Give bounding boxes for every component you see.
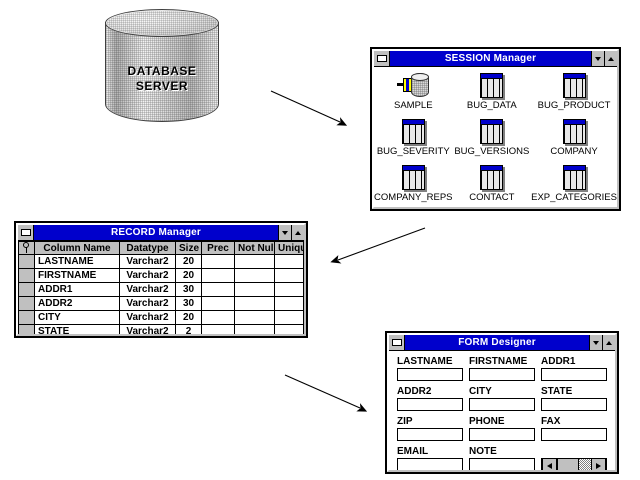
cell-not-null[interactable]: [235, 269, 275, 283]
window-menu-icon[interactable]: [18, 225, 34, 240]
cell-column-name[interactable]: CITY: [35, 311, 120, 325]
maximize-button[interactable]: [604, 51, 617, 66]
table-row[interactable]: CITY Varchar2 20: [19, 311, 304, 325]
field-input[interactable]: [541, 428, 607, 441]
cell-datatype[interactable]: Varchar2: [120, 311, 176, 325]
record-manager-titlebar[interactable]: RECORD Manager: [18, 225, 304, 241]
record-grid-header-row: Column Name Datatype Size Prec Not Null …: [19, 242, 304, 255]
window-menu-icon[interactable]: [374, 51, 390, 66]
session-item-company[interactable]: COMPANY: [531, 117, 617, 163]
cell-prec[interactable]: [202, 255, 235, 269]
maximize-button[interactable]: [291, 225, 304, 240]
database-server-label: DATABASE SERVER: [105, 64, 219, 94]
cell-unique[interactable]: [275, 269, 304, 283]
field-label: FAX: [541, 416, 607, 428]
minimize-button[interactable]: [589, 335, 602, 350]
database-server-graphic: DATABASE SERVER: [99, 3, 223, 129]
spacer-label: [541, 446, 607, 458]
key-icon: [22, 242, 31, 253]
table-icon: [402, 163, 425, 191]
cell-prec[interactable]: [202, 269, 235, 283]
form-designer-body: LASTNAME FIRSTNAME ADDR1: [389, 351, 615, 470]
cell-prec[interactable]: [202, 325, 235, 335]
cell-unique[interactable]: [275, 283, 304, 297]
column-header[interactable]: Size: [176, 242, 202, 255]
session-item-contact[interactable]: CONTACT: [453, 163, 532, 207]
field-label: PHONE: [469, 416, 535, 428]
field-label: ADDR1: [541, 356, 607, 368]
form-field-email[interactable]: EMAIL: [397, 446, 463, 470]
session-item-label: BUG_PRODUCT: [538, 100, 611, 111]
session-item-label: COMPANY: [550, 146, 597, 157]
field-label: EMAIL: [397, 446, 463, 458]
cell-unique[interactable]: [275, 255, 304, 269]
server-label-line2: SERVER: [105, 79, 219, 94]
field-input[interactable]: [469, 458, 535, 470]
field-input[interactable]: [469, 398, 535, 411]
cell-datatype[interactable]: Varchar2: [120, 283, 176, 297]
row-selector[interactable]: [19, 311, 35, 325]
cell-prec[interactable]: [202, 311, 235, 325]
table-icon: [480, 117, 503, 145]
session-manager-body: SAMPLE BUG_DATA BUG_PRODUCT: [374, 67, 617, 207]
row-selector[interactable]: [19, 255, 35, 269]
field-input[interactable]: [469, 368, 535, 381]
session-item-company-reps[interactable]: COMPANY_REPS: [374, 163, 453, 207]
window-session-manager[interactable]: SESSION Manager SAMPLE: [370, 47, 621, 211]
field-label: LASTNAME: [397, 356, 463, 368]
form-row: ADDR2 CITY STATE: [397, 386, 607, 411]
form-row: EMAIL NOTE: [397, 446, 607, 470]
record-manager-title: RECORD Manager: [34, 225, 278, 240]
field-input[interactable]: [541, 398, 607, 411]
row-selector[interactable]: [19, 325, 35, 335]
table-icon: [480, 163, 503, 191]
field-label: FIRSTNAME: [469, 356, 535, 368]
session-item-exp-categories[interactable]: EXP_CATEGORIES: [531, 163, 617, 207]
field-input[interactable]: [397, 458, 463, 470]
cell-size[interactable]: 20: [176, 255, 202, 269]
scrollbar-thumb[interactable]: [557, 459, 579, 470]
minimize-button[interactable]: [278, 225, 291, 240]
cell-unique[interactable]: [275, 311, 304, 325]
database-connection-icon: [397, 71, 429, 99]
cell-not-null[interactable]: [235, 283, 275, 297]
cell-size[interactable]: 20: [176, 311, 202, 325]
column-header[interactable]: Unique: [275, 242, 304, 255]
row-selector[interactable]: [19, 269, 35, 283]
cell-datatype[interactable]: Varchar2: [120, 297, 176, 311]
session-item-sample[interactable]: SAMPLE: [374, 71, 453, 117]
cell-unique[interactable]: [275, 325, 304, 335]
field-input[interactable]: [397, 428, 463, 441]
field-label: CITY: [469, 386, 535, 398]
cell-not-null[interactable]: [235, 297, 275, 311]
cell-column-name[interactable]: ADDR2: [35, 297, 120, 311]
field-input[interactable]: [397, 368, 463, 381]
session-item-label: SAMPLE: [394, 100, 433, 111]
form-row: LASTNAME FIRSTNAME ADDR1: [397, 356, 607, 381]
session-item-label: BUG_DATA: [467, 100, 517, 111]
cell-datatype[interactable]: Varchar2: [120, 255, 176, 269]
cell-datatype[interactable]: Varchar2: [120, 269, 176, 283]
row-selector[interactable]: [19, 283, 35, 297]
cell-not-null[interactable]: [235, 311, 275, 325]
session-item-bug-versions[interactable]: BUG_VERSIONS: [453, 117, 532, 163]
server-label-line1: DATABASE: [105, 64, 219, 79]
scroll-right-arrow-icon[interactable]: [591, 459, 606, 470]
scroll-left-arrow-icon[interactable]: [542, 459, 557, 470]
horizontal-scrollbar[interactable]: [541, 458, 607, 470]
table-icon: [480, 71, 503, 99]
row-selector[interactable]: [19, 297, 35, 311]
form-field-lastname[interactable]: LASTNAME: [397, 356, 463, 381]
session-item-label: COMPANY_REPS: [374, 192, 452, 203]
form-field-fax[interactable]: FAX: [541, 416, 607, 441]
form-field-state[interactable]: STATE: [541, 386, 607, 411]
session-icon-grid: SAMPLE BUG_DATA BUG_PRODUCT: [374, 71, 617, 207]
session-manager-title: SESSION Manager: [390, 51, 591, 66]
form-row: ZIP PHONE FAX: [397, 416, 607, 441]
field-input[interactable]: [397, 398, 463, 411]
form-field-zip[interactable]: ZIP: [397, 416, 463, 441]
maximize-button[interactable]: [602, 335, 615, 350]
field-input[interactable]: [469, 428, 535, 441]
cell-not-null[interactable]: [235, 325, 275, 335]
table-icon: [563, 163, 586, 191]
scrollbar-track[interactable]: [579, 459, 591, 470]
table-row[interactable]: LASTNAME Varchar2 20: [19, 255, 304, 269]
field-label: NOTE: [469, 446, 535, 458]
cell-not-null[interactable]: [235, 255, 275, 269]
key-column-header[interactable]: [19, 242, 35, 255]
record-manager-body: Column Name Datatype Size Prec Not Null …: [18, 241, 304, 334]
form-scrollbar-wrap: [541, 446, 607, 470]
column-header[interactable]: Datatype: [120, 242, 176, 255]
column-header[interactable]: Column Name: [35, 242, 120, 255]
table-row[interactable]: FIRSTNAME Varchar2 20: [19, 269, 304, 283]
cell-size[interactable]: 30: [176, 297, 202, 311]
field-input[interactable]: [541, 368, 607, 381]
diagram-canvas: DATABASE SERVER SESSION Manager: [0, 0, 640, 480]
cylinder-shadow: DATABASE SERVER: [105, 9, 223, 129]
field-label: STATE: [541, 386, 607, 398]
session-item-label: CONTACT: [469, 192, 514, 203]
cell-column-name[interactable]: LASTNAME: [35, 255, 120, 269]
column-header[interactable]: Prec: [202, 242, 235, 255]
form-canvas: LASTNAME FIRSTNAME ADDR1: [397, 356, 607, 466]
table-icon: [563, 117, 586, 145]
form-field-addr1[interactable]: ADDR1: [541, 356, 607, 381]
table-row[interactable]: ADDR1 Varchar2 30: [19, 283, 304, 297]
form-field-phone[interactable]: PHONE: [469, 416, 535, 441]
form-designer-titlebar[interactable]: FORM Designer: [389, 335, 615, 351]
session-item-label: BUG_SEVERITY: [377, 146, 450, 157]
form-designer-title: FORM Designer: [405, 335, 589, 350]
window-form-designer[interactable]: FORM Designer LASTNAME FIRSTNAME: [385, 331, 619, 474]
table-icon: [402, 117, 425, 145]
session-item-bug-product[interactable]: BUG_PRODUCT: [531, 71, 617, 117]
cell-size[interactable]: 20: [176, 269, 202, 283]
cell-column-name[interactable]: ADDR1: [35, 283, 120, 297]
session-item-bug-data[interactable]: BUG_DATA: [453, 71, 532, 117]
table-icon: [563, 71, 586, 99]
window-record-manager[interactable]: RECORD Manager: [14, 221, 308, 338]
cell-prec[interactable]: [202, 297, 235, 311]
form-field-addr2[interactable]: ADDR2: [397, 386, 463, 411]
form-field-city[interactable]: CITY: [469, 386, 535, 411]
session-item-bug-severity[interactable]: BUG_SEVERITY: [374, 117, 453, 163]
session-item-label: BUG_VERSIONS: [454, 146, 529, 157]
field-label: ZIP: [397, 416, 463, 428]
cylinder-top: [105, 9, 219, 37]
cell-unique[interactable]: [275, 297, 304, 311]
cell-size[interactable]: 30: [176, 283, 202, 297]
cell-prec[interactable]: [202, 283, 235, 297]
cell-column-name[interactable]: STATE: [35, 325, 120, 335]
table-row[interactable]: ADDR2 Varchar2 30: [19, 297, 304, 311]
minimize-button[interactable]: [591, 51, 604, 66]
session-item-label: EXP_CATEGORIES: [531, 192, 617, 203]
record-grid[interactable]: Column Name Datatype Size Prec Not Null …: [18, 241, 304, 334]
field-label: ADDR2: [397, 386, 463, 398]
cell-column-name[interactable]: FIRSTNAME: [35, 269, 120, 283]
cell-datatype[interactable]: Varchar2: [120, 325, 176, 335]
window-menu-icon[interactable]: [389, 335, 405, 350]
column-header[interactable]: Not Null: [235, 242, 275, 255]
form-field-firstname[interactable]: FIRSTNAME: [469, 356, 535, 381]
cell-size[interactable]: 2: [176, 325, 202, 335]
form-field-note[interactable]: NOTE: [469, 446, 535, 470]
session-manager-titlebar[interactable]: SESSION Manager: [374, 51, 617, 67]
table-row[interactable]: STATE Varchar2 2: [19, 325, 304, 335]
